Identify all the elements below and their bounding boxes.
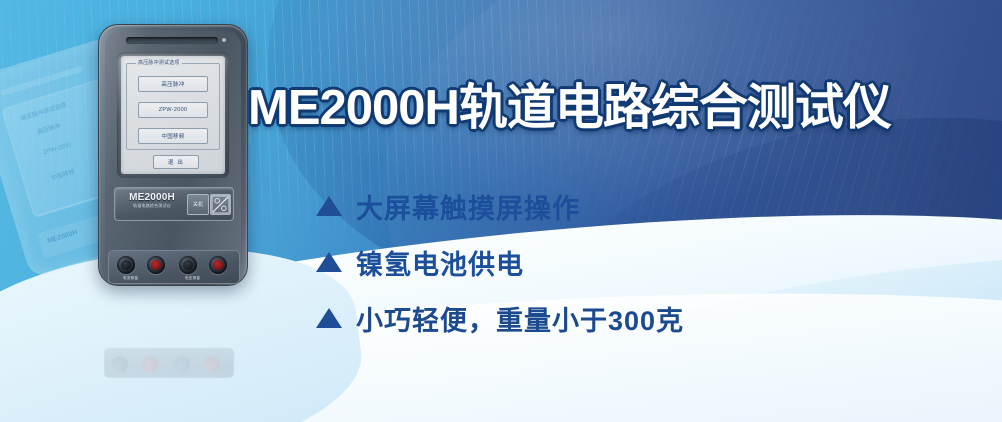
feature-list: 大屏幕触摸屏操作 镍氢电池供电 小巧轻便，重量小于300克 [316,178,876,346]
screen-button-zpw-2000[interactable]: ZPW-2000 [138,102,208,118]
list-item: 小巧轻便，重量小于300克 [316,290,876,346]
screen-fieldset: 高压脉冲测试选项 高压脉冲 ZPW-2000 中国移频 [126,63,220,150]
screen-button-china-frequency-shift[interactable]: 中国移频 [138,128,208,144]
ghost-device-brand: ME2000H [47,229,79,245]
reflection-jack-4 [204,356,220,372]
jack-voltage-red[interactable] [209,256,227,274]
page-title: ME2000H轨道电路综合测试仪 [248,78,891,138]
feature-label-1: 镍氢电池供电 [356,243,524,282]
list-item: 镍氢电池供电 [316,234,876,290]
device-screen-bezel: 高压脉冲测试选项 高压脉冲 ZPW-2000 中国移频 退 出 [117,52,229,178]
screen-exit-button[interactable]: 退 出 [153,155,199,169]
ghost-screen-button-2: 中国移频 [50,166,76,182]
device-screen[interactable]: 高压脉冲测试选项 高压脉冲 ZPW-2000 中国移频 退 出 [121,56,225,174]
device-jack-panel: 电流测量 电压测量 [108,250,240,284]
ghost-screen-legend: 高压脉冲测试选项 [19,100,68,123]
ghost-screen-button-0: 高压脉冲 [36,121,62,137]
reflection-jack-3 [174,356,190,372]
jack-label-current: 电流测量 [123,276,138,281]
screen-button-high-voltage-pulse[interactable]: 高压脉冲 [138,76,208,92]
product-device: 高压脉冲测试选项 高压脉冲 ZPW-2000 中国移频 退 出 ME2000H … [98,24,248,286]
reflection-jack-2 [142,356,158,372]
jack-current-red[interactable] [147,256,165,274]
device-speaker-slot [126,37,218,44]
device-brand-subtitle: 轨道电路综合测试仪 [121,203,183,209]
product-banner: 高压脉冲测试选项 高压脉冲 ZPW-2000 中国移频 ME2000H 高压脉冲… [0,0,1002,422]
ghost-screen-button-1: ZPW-2000 [43,142,72,156]
device-power-key[interactable]: 关机 [187,194,209,215]
screen-legend: 高压脉冲测试选项 [136,59,182,66]
jack-voltage-black[interactable] [179,256,197,274]
triangle-up-icon [316,252,342,272]
feature-label-2: 小巧轻便，重量小于300克 [356,299,684,338]
settings-slash-icon[interactable] [210,194,231,215]
device-brand-panel: ME2000H 轨道电路综合测试仪 关机 [114,187,234,221]
triangle-up-icon [316,196,342,216]
device-brand-name: ME2000H [121,192,183,203]
device-reflection [104,292,244,378]
jack-current-black[interactable] [117,256,135,274]
triangle-up-icon [316,308,342,328]
list-item: 大屏幕触摸屏操作 [316,178,876,234]
jack-label-voltage: 电压测量 [185,276,200,281]
feature-label-0: 大屏幕触摸屏操作 [356,187,580,226]
reflection-jack-1 [112,356,128,372]
device-indicator-dot [222,38,226,42]
device-brand: ME2000H 轨道电路综合测试仪 [121,192,183,209]
